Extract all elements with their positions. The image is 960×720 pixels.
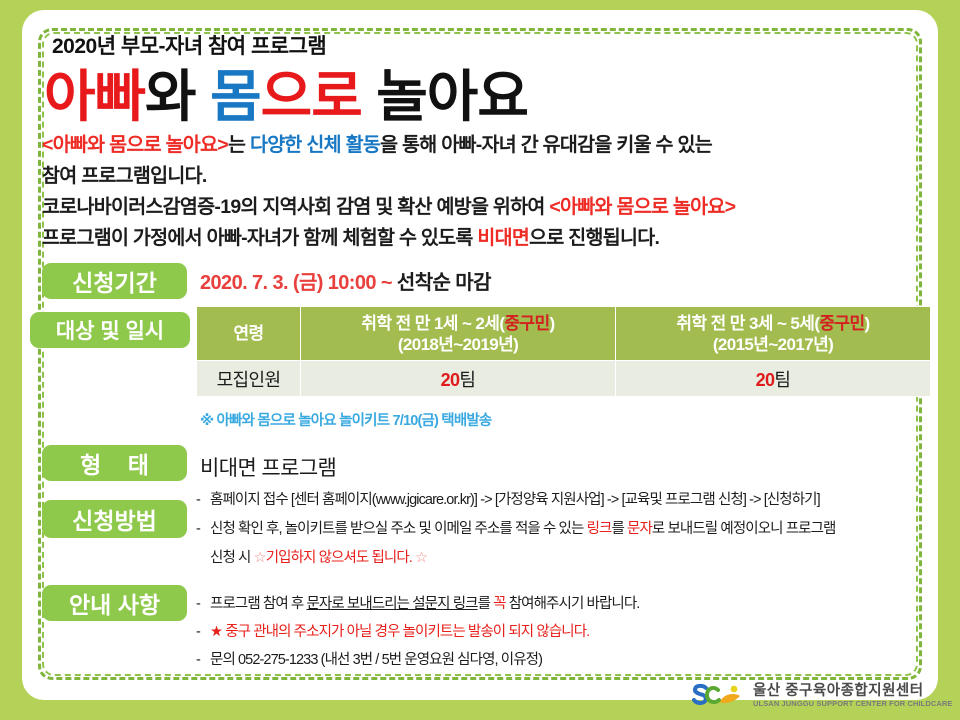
label-notice: 안내 사항: [42, 585, 187, 621]
footer-logo: 울산 중구육아종합지원센터 ULSAN JUNGGU SUPPORT CENTE…: [690, 682, 953, 710]
title-part-4: 으로: [261, 65, 362, 128]
capacity-group-1-unit: 팀: [459, 370, 475, 390]
footer-logo-text: 울산 중구육아종합지원센터 ULSAN JUNGGU SUPPORT CENTE…: [753, 684, 953, 707]
how-to-apply-segment: 링크: [587, 521, 612, 537]
how-to-apply-segment: ☆: [412, 550, 427, 566]
how-to-apply-item: -신청 확인 후, 놀이키트를 받으실 주소 및 이메일 주소를 적을 수 있는…: [196, 515, 934, 544]
application-period-note: 선착순 마감: [392, 272, 491, 294]
notice-bullets: -프로그램 참여 후 문자로 보내드리는 설문지 링크를 꼭 참여해주시기 바랍…: [196, 590, 934, 674]
capacity-group-1: 20팀: [301, 361, 616, 397]
kit-shipping-note: ※ 아빠와 몸으로 놀아요 놀이키트 7/10(금) 택배발송: [200, 409, 491, 430]
capacity-group-2: 20팀: [616, 361, 931, 397]
poster-title: 아빠와 몸으로 놀아요: [44, 52, 528, 133]
notice-segment: 꼭: [493, 596, 505, 612]
target-table: 연령 취학 전 만 1세 ~ 2세(중구민) (2018년~2019년) 취학 …: [196, 306, 931, 397]
table-col-group-1: 취학 전 만 1세 ~ 2세(중구민) (2018년~2019년): [301, 307, 616, 361]
notice-segment: 참여해주시기 바랍니다.: [506, 596, 640, 612]
how-to-apply-item: 신청 시 ☆기입하지 않으셔도 됩니다. ☆: [196, 544, 934, 573]
intro-text-1d: 을 통해 아빠-자녀 간 유대감을 키울 수 있는: [380, 134, 712, 156]
table-col-age: 연령: [197, 307, 301, 361]
intro-text-4c: 으로 진행됩니다.: [529, 227, 659, 249]
intro-program-name-2: <아빠와 몸으로 놀아요>: [549, 196, 735, 218]
label-target-and-schedule: 대상 및 일시: [30, 312, 190, 348]
notice-item: -문의 052-275-1233 (내선 3번 / 5번 운영요원 심다영, 이…: [196, 646, 934, 674]
table-row: 모집인원 20팀 20팀: [197, 361, 931, 397]
label-program-format: 형 태: [42, 445, 187, 481]
intro-highlight-activity: 다양한 신체 활동: [250, 134, 380, 156]
capacity-group-2-unit: 팀: [774, 370, 790, 390]
table-col-group-2: 취학 전 만 3세 ~ 5세(중구민) (2015년~2017년): [616, 307, 931, 361]
group-1-text-b: ): [550, 314, 555, 333]
row-label-capacity: 모집인원: [197, 361, 301, 397]
intro-line-2: 참여 프로그램입니다.: [42, 161, 922, 192]
notice-dash: -: [196, 618, 200, 646]
how-to-apply-item: -홈페이지 접수 [센터 홈페이지(www.jgicare.or.kr)] ->…: [196, 486, 934, 515]
table-header-row: 연령 취학 전 만 1세 ~ 2세(중구민) (2018년~2019년) 취학 …: [197, 307, 931, 361]
group-2-text-b: ): [865, 314, 870, 333]
notice-segment: 문의 052-275-1233 (내선 3번 / 5번 운영요원 심다영, 이유…: [210, 652, 542, 668]
title-part-1: 아빠: [44, 65, 145, 128]
intro-highlight-noncontact: 비대면: [477, 227, 529, 249]
intro-line-4: 프로그램이 가정에서 아빠-자녀가 함께 체험할 수 있도록 비대면으로 진행됩…: [42, 223, 922, 254]
title-part-2: 와: [145, 65, 210, 128]
group-1-residency: 중구민: [504, 314, 549, 333]
application-period-date: 2020. 7. 3. (금) 10:00 ~: [200, 272, 392, 294]
intro-text-1b: 는: [228, 134, 250, 156]
notice-segment: 문자로 보내드리는 설문지 링크: [306, 596, 477, 612]
capacity-group-2-number: 20: [756, 370, 775, 390]
label-application-period: 신청기간: [42, 263, 187, 299]
footer-center-name-ko: 울산 중구육아종합지원센터: [753, 684, 953, 699]
group-2-residency: 중구민: [819, 314, 864, 333]
how-to-apply-segment: 로 보내드릴 예정이오니 프로그램: [652, 521, 836, 537]
how-to-apply-segment: 신청 확인 후, 놀이키트를 받으실 주소 및 이메일 주소를 적을 수 있는: [210, 521, 587, 537]
label-how-to-apply: 신청방법: [42, 500, 187, 538]
title-part-3: 몸: [210, 65, 261, 128]
how-to-apply-segment: ☆: [254, 550, 266, 566]
group-2-years: (2015년~2017년): [713, 335, 833, 354]
notice-item: -프로그램 참여 후 문자로 보내드리는 설문지 링크를 꼭 참여해주시기 바랍…: [196, 590, 934, 618]
poster-canvas: 2020년 부모-자녀 참여 프로그램 아빠와 몸으로 놀아요 <아빠와 몸으로…: [0, 0, 960, 720]
notice-dash: -: [196, 590, 200, 618]
how-to-apply-segment: 기입하지 않으셔도 됩니다.: [266, 550, 412, 566]
intro-line-1: <아빠와 몸으로 놀아요>는 다양한 신체 활동을 통해 아빠-자녀 간 유대감…: [42, 130, 922, 161]
how-to-apply-segment: 문자: [627, 521, 652, 537]
program-format-value: 비대면 프로그램: [200, 452, 336, 482]
group-1-text-a: 취학 전 만 1세 ~ 2세(: [361, 314, 504, 333]
notice-item: -★ 중구 관내의 주소지가 아닐 경우 놀이키트는 발송이 되지 않습니다.: [196, 618, 934, 646]
intro-program-name-1: <아빠와 몸으로 놀아요>: [42, 134, 228, 156]
intro-text-3a: 코로나바이러스감염증-19의 지역사회 감염 및 확산 예방을 위하여: [42, 196, 549, 218]
notice-segment: ★ 중구 관내의 주소지가 아닐 경우 놀이키트는 발송이 되지 않습니다.: [210, 624, 589, 640]
footer-center-name-en: ULSAN JUNGGU SUPPORT CENTER FOR CHILDCAR…: [753, 700, 953, 708]
notice-segment: 를: [478, 596, 494, 612]
how-to-apply-segment: 를: [611, 521, 627, 537]
how-to-apply-segment: 신청 시: [210, 550, 254, 566]
capacity-group-1-number: 20: [441, 370, 460, 390]
title-part-5: 놀아요: [362, 65, 528, 128]
notice-segment: 프로그램 참여 후: [210, 596, 306, 612]
group-1-years: (2018년~2019년): [398, 335, 518, 354]
application-period-value: 2020. 7. 3. (금) 10:00 ~ 선착순 마감: [200, 266, 491, 295]
how-to-apply-segment: 홈페이지 접수 [센터 홈페이지(www.jgicare.or.kr)] -> …: [210, 492, 820, 508]
notice-dash: -: [196, 646, 200, 674]
how-to-apply-dash: -: [196, 486, 200, 515]
center-logo-icon: [690, 682, 746, 710]
intro-paragraph: <아빠와 몸으로 놀아요>는 다양한 신체 활동을 통해 아빠-자녀 간 유대감…: [42, 130, 922, 254]
group-2-text-a: 취학 전 만 3세 ~ 5세(: [676, 314, 819, 333]
intro-text-4a: 프로그램이 가정에서 아빠-자녀가 함께 체험할 수 있도록: [42, 227, 477, 249]
how-to-apply-bullets: -홈페이지 접수 [센터 홈페이지(www.jgicare.or.kr)] ->…: [196, 486, 934, 573]
how-to-apply-dash: -: [196, 515, 200, 544]
intro-line-3: 코로나바이러스감염증-19의 지역사회 감염 및 확산 예방을 위하여 <아빠와…: [42, 192, 922, 223]
